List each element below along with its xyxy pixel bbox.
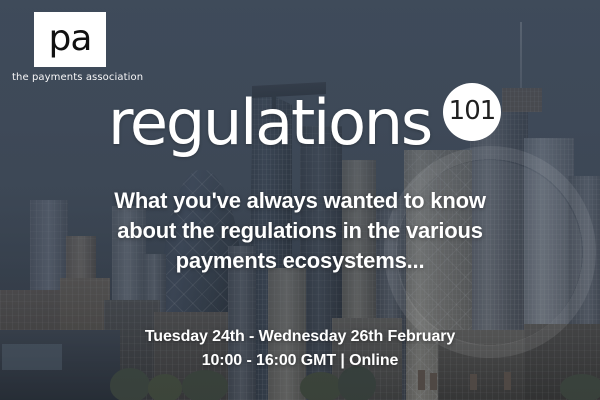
- page-title: What you've always wanted to know about …: [50, 186, 550, 276]
- headline-line-3: payments ecosystems...: [50, 246, 550, 276]
- promo-banner: pa the payments association regulations …: [0, 0, 600, 400]
- regulations-wordmark: regulations: [108, 92, 431, 154]
- payments-association-logo[interactable]: pa the payments association: [34, 12, 143, 83]
- event-details: Tuesday 24th - Wednesday 26th February 1…: [50, 325, 550, 373]
- badge-101-label: 101: [449, 98, 496, 124]
- logo-mark-text: pa: [49, 21, 92, 57]
- badge-101: 101: [443, 83, 501, 141]
- logo-tagline: the payments association: [12, 72, 143, 83]
- headline-line-1: What you've always wanted to know: [50, 186, 550, 216]
- banner-content: pa the payments association regulations …: [0, 0, 600, 400]
- event-dates: Tuesday 24th - Wednesday 26th February: [50, 325, 550, 349]
- logo-mark-square: pa: [34, 12, 106, 67]
- headline-line-2: about the regulations in the various: [50, 216, 550, 246]
- event-time-and-format: 10:00 - 16:00 GMT | Online: [50, 349, 550, 373]
